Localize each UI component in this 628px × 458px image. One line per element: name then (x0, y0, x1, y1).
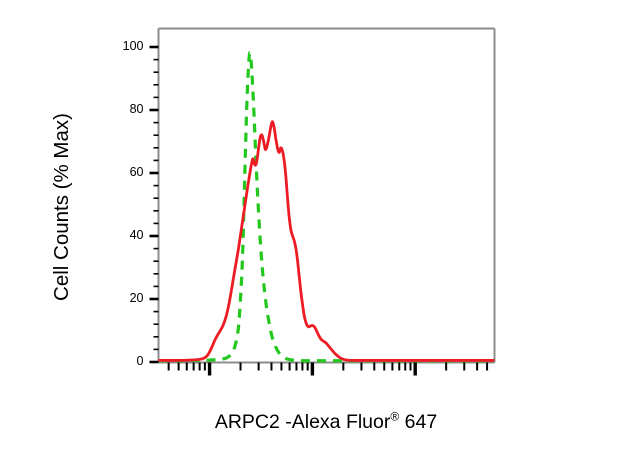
figure-background (0, 0, 628, 458)
flow-cytometry-histogram (0, 0, 628, 458)
